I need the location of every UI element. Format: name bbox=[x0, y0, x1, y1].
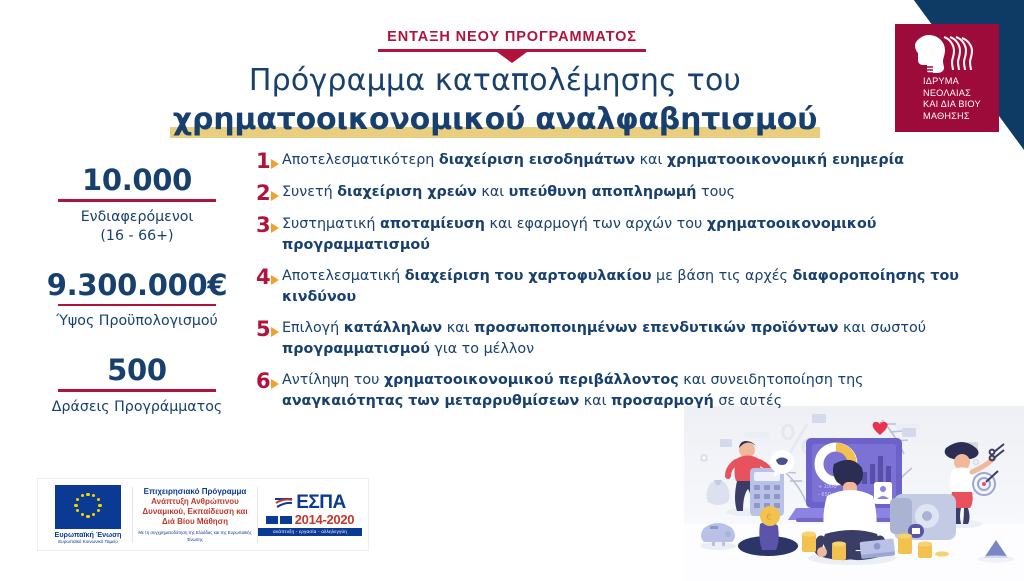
list-item-text: Αποτελεσματικότερη διαχείριση εισοδημάτω… bbox=[282, 150, 982, 171]
stat-divider bbox=[58, 389, 216, 392]
list-item: 3Συστηματική αποταμίευση και εφαρμογή τω… bbox=[256, 214, 982, 256]
list-item-text-plain: Αποτελεσματικότερη bbox=[282, 152, 439, 168]
list-item-text-strong: διαχείριση εισοδημάτων bbox=[439, 152, 635, 168]
stat-label: Ύψος Προϋπολογισμού bbox=[24, 312, 250, 331]
logo-wordmark: ΙΔΡΥΜΑ ΝΕΟΛΑΙΑΣ ΚΑΙ ΔΙΑ ΒΙΟΥ ΜΑΘΗΣΗΣ bbox=[923, 76, 995, 122]
list-item: 2Συνετή διαχείριση χρεών και υπεύθυνη απ… bbox=[256, 182, 982, 204]
op-line-1: Επιχειρησιακό Πρόγραμμα bbox=[137, 487, 253, 497]
stat-label-line-1: Ύψος Προϋπολογισμού bbox=[24, 312, 250, 331]
list-item: 4Αποτελεσματική διαχείριση του χαρτοφυλα… bbox=[256, 266, 982, 308]
list-item-text: Αντίληψη του χρηματοοικονομικού περιβάλλ… bbox=[282, 370, 982, 412]
eyebrow-block: ΕΝΤΑΞΗ ΝΕΟΥ ΠΡΟΓΡΑΜΜΑΤΟΣ bbox=[0, 26, 1024, 52]
list-item-text-strong: προσωποποιημένων επενδυτικών προϊόντων bbox=[474, 320, 839, 336]
list-item-text-plain: και bbox=[635, 152, 667, 168]
espa-swoosh-icon bbox=[274, 495, 294, 511]
stat-item: 10.000Ενδιαφερόμενοι(16 - 66+) bbox=[24, 163, 250, 246]
list-item-text-strong: αναγκαιότητας των μεταρρυθμίσεων bbox=[282, 393, 579, 409]
funding-logos-bar: Ευρωπαϊκή Ένωση Ευρωπαϊκό Κοινωνικό Ταμε… bbox=[37, 478, 369, 551]
op-line-3: Με τη συγχρηματοδότηση της Ελλάδας και τ… bbox=[137, 529, 253, 543]
list-item-number: 2 bbox=[256, 182, 282, 204]
list-item-text-plain: τους bbox=[696, 184, 735, 200]
page-title: Πρόγραμμα καταπολέμησης του χρηματοοικον… bbox=[150, 62, 840, 138]
espa-wordmark: ΕΣΠΑ bbox=[296, 493, 346, 512]
logo-line-1: ΙΔΡΥΜΑ bbox=[923, 76, 995, 88]
list-item-text-plain: Αντίληψη του bbox=[282, 372, 384, 388]
list-item-text-plain: και σωστού bbox=[838, 320, 926, 336]
stat-divider bbox=[58, 199, 216, 202]
title-line-1: Πρόγραμμα καταπολέμησης του bbox=[150, 62, 840, 100]
svg-text:+ 1000: + 1000 bbox=[818, 484, 837, 490]
stat-label-line-1: Δράσεις Προγράμματος bbox=[24, 398, 250, 417]
eu-subcaption: Ευρωπαϊκό Κοινωνικό Ταμείο bbox=[44, 539, 132, 545]
espa-logo-block: ΕΣΠΑ 2014-2020 ανάπτυξη - εργασία - αλλη… bbox=[258, 493, 362, 536]
logo-line-3: ΚΑΙ ΔΙΑ ΒΙΟΥ bbox=[923, 99, 995, 111]
greece-eu-flags-icon bbox=[266, 516, 292, 524]
stat-value: 500 bbox=[24, 353, 250, 387]
list-item: 1Αποτελεσματικότερη διαχείριση εισοδημάτ… bbox=[256, 150, 982, 172]
logo-line-4: ΜΑΘΗΣΗΣ bbox=[923, 111, 995, 123]
list-item-number: 3 bbox=[256, 214, 282, 236]
benefits-list: 1Αποτελεσματικότερη διαχείριση εισοδημάτ… bbox=[256, 150, 982, 422]
list-item-text-plain: για το μέλλον bbox=[430, 341, 534, 357]
list-item-text-plain: Αποτελεσματική bbox=[282, 268, 405, 284]
list-item-text: Συνετή διαχείριση χρεών και υπεύθυνη απο… bbox=[282, 182, 982, 203]
list-item-text-strong: διαχείριση χρεών bbox=[337, 184, 477, 200]
eu-logo-block: Ευρωπαϊκή Ένωση Ευρωπαϊκό Κοινωνικό Ταμε… bbox=[44, 485, 132, 545]
list-item-text-plain: σε αυτές bbox=[714, 393, 782, 409]
operational-programme-block: Επιχειρησιακό Πρόγραμμα Ανάπτυξη Ανθρώπι… bbox=[132, 487, 258, 543]
espa-years: 2014-2020 bbox=[295, 513, 354, 526]
list-item-number: 6 bbox=[256, 370, 282, 392]
list-item-text-strong: κατάλληλων bbox=[344, 320, 442, 336]
svg-text:€: € bbox=[766, 513, 772, 523]
heads-profile-icon bbox=[907, 33, 987, 77]
title-line-2-highlighted: χρηματοοικονομικού αναλφαβητισμού bbox=[170, 102, 820, 138]
list-item-number: 1 bbox=[256, 150, 282, 172]
list-item-text-strong: υπεύθυνη αποπληρωμή bbox=[509, 184, 697, 200]
list-item-text-strong: διαχείριση του χαρτοφυλακίου bbox=[405, 268, 652, 284]
list-item-text-plain: Συστηματική bbox=[282, 216, 380, 232]
infographic-canvas: ΕΝΤΑΞΗ ΝΕΟΥ ΠΡΟΓΡΑΜΜΑΤΟΣ Πρόγραμμα καταπ… bbox=[0, 0, 1024, 581]
stat-value: 10.000 bbox=[24, 163, 250, 197]
list-item-text-strong: προγραμματισμού bbox=[282, 341, 430, 357]
list-item-text-strong: χρηματοοικονομικού περιβάλλοντος bbox=[384, 372, 679, 388]
financial-literacy-illustration: % + bbox=[684, 406, 1024, 581]
list-item-text: Συστηματική αποταμίευση και εφαρμογή των… bbox=[282, 214, 982, 256]
list-item-text-strong: αποταμίευση bbox=[380, 216, 485, 232]
list-item-text: Επιλογή κατάλληλων και προσωποποιημένων … bbox=[282, 318, 982, 360]
list-item-text-plain: και bbox=[579, 393, 611, 409]
espa-top-row: ΕΣΠΑ bbox=[258, 493, 362, 512]
list-item-text-strong: προσαρμογή bbox=[611, 393, 714, 409]
stat-label-line-2: (16 - 66+) bbox=[24, 227, 250, 246]
stat-item: 9.300.000€Ύψος Προϋπολογισμού bbox=[24, 268, 250, 332]
list-item-number: 4 bbox=[256, 266, 282, 288]
espa-tagline: ανάπτυξη - εργασία - αλληλεγγύη bbox=[258, 528, 362, 536]
espa-mid-row: 2014-2020 bbox=[258, 513, 362, 526]
eyebrow-rule-with-triangle bbox=[378, 49, 646, 52]
eyebrow-text: ΕΝΤΑΞΗ ΝΕΟΥ ΠΡΟΓΡΑΜΜΑΤΟΣ bbox=[387, 29, 637, 45]
stat-divider bbox=[58, 304, 216, 307]
title-line-2-wrapper: χρηματοοικονομικού αναλφαβητισμού bbox=[150, 102, 840, 138]
stat-value: 9.300.000€ bbox=[24, 268, 250, 302]
eu-flag-icon bbox=[55, 485, 121, 529]
list-item-text: Αποτελεσματική διαχείριση του χαρτοφυλακ… bbox=[282, 266, 982, 308]
list-item: 5Επιλογή κατάλληλων και προσωποποιημένων… bbox=[256, 318, 982, 360]
stat-label: Δράσεις Προγράμματος bbox=[24, 398, 250, 417]
list-item-text-strong: χρηματοοικονομική ευημερία bbox=[667, 152, 904, 168]
list-item-text-plain: και bbox=[477, 184, 509, 200]
list-item-number: 5 bbox=[256, 318, 282, 340]
list-item-text-plain: και εφαρμογή των αρχών του bbox=[485, 216, 707, 232]
list-item-text-plain: και bbox=[442, 320, 474, 336]
list-item: 6Αντίληψη του χρηματοοικονομικού περιβάλ… bbox=[256, 370, 982, 412]
list-item-text-plain: και συνειδητοποίηση της bbox=[679, 372, 864, 388]
stat-label-line-1: Ενδιαφερόμενοι bbox=[24, 208, 250, 227]
logo-line-2: ΝΕΟΛΑΙΑΣ bbox=[923, 88, 995, 100]
op-line-2: Ανάπτυξη Ανθρώπινου Δυναμικού, Εκπαίδευσ… bbox=[137, 497, 253, 527]
list-item-text-plain: Επιλογή bbox=[282, 320, 344, 336]
list-item-text-plain: Συνετή bbox=[282, 184, 337, 200]
inedivim-logo: ΙΔΡΥΜΑ ΝΕΟΛΑΙΑΣ ΚΑΙ ΔΙΑ ΒΙΟΥ ΜΑΘΗΣΗΣ bbox=[895, 24, 999, 132]
stat-label: Ενδιαφερόμενοι(16 - 66+) bbox=[24, 208, 250, 246]
stat-item: 500Δράσεις Προγράμματος bbox=[24, 353, 250, 417]
list-item-text-plain: με βάση τις αρχές bbox=[652, 268, 793, 284]
statistics-panel: 10.000Ενδιαφερόμενοι(16 - 66+)9.300.000€… bbox=[24, 163, 250, 439]
eu-caption: Ευρωπαϊκή Ένωση bbox=[44, 531, 132, 539]
